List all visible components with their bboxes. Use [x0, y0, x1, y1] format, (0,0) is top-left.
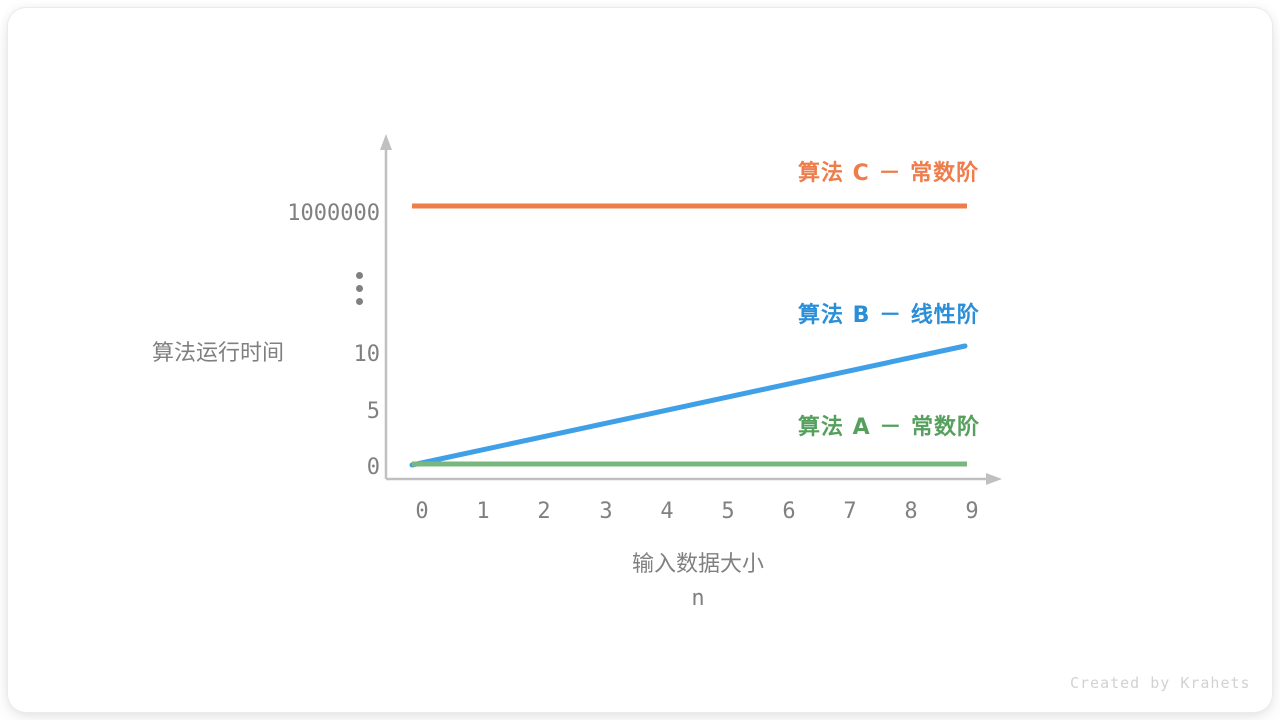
credit-text: Created by Krahets	[1070, 674, 1251, 692]
x-axis-title-text: 输入数据大小	[632, 552, 764, 577]
figure-card: 1000000 10 5 0 0 1 2 3 4 5 6 7 8 9 算法运行时…	[8, 8, 1272, 712]
series-line-b	[412, 346, 965, 465]
x-tick-label-5: 5	[704, 499, 752, 524]
y-tick-label-0: 0	[272, 455, 380, 480]
x-axis-title-variable: n	[586, 586, 810, 611]
x-axis	[386, 473, 1002, 485]
series-label-a: 算法 A － 常数阶	[798, 409, 980, 441]
y-tick-label-5: 5	[272, 399, 380, 424]
plot-area: 1000000 10 5 0 0 1 2 3 4 5 6 7 8 9 算法运行时…	[8, 8, 1272, 712]
x-tick-label-2: 2	[520, 499, 568, 524]
x-tick-label-6: 6	[765, 499, 813, 524]
figure-canvas: 1000000 10 5 0 0 1 2 3 4 5 6 7 8 9 算法运行时…	[0, 0, 1280, 720]
x-tick-label-1: 1	[459, 499, 507, 524]
y-axis-ellipsis-icon	[356, 272, 364, 305]
x-axis-title: 输入数据大小 n	[586, 546, 810, 611]
x-tick-label-0: 0	[398, 499, 446, 524]
series-label-b: 算法 B － 线性阶	[798, 297, 980, 329]
y-axis	[380, 134, 392, 479]
x-tick-label-8: 8	[887, 499, 935, 524]
x-tick-label-4: 4	[643, 499, 691, 524]
y-axis-title: 算法运行时间	[128, 335, 308, 367]
x-tick-label-9: 9	[948, 499, 996, 524]
x-tick-label-7: 7	[826, 499, 874, 524]
x-tick-label-3: 3	[582, 499, 630, 524]
series-label-c: 算法 C － 常数阶	[798, 155, 979, 187]
y-tick-label-1000000: 1000000	[252, 201, 380, 226]
